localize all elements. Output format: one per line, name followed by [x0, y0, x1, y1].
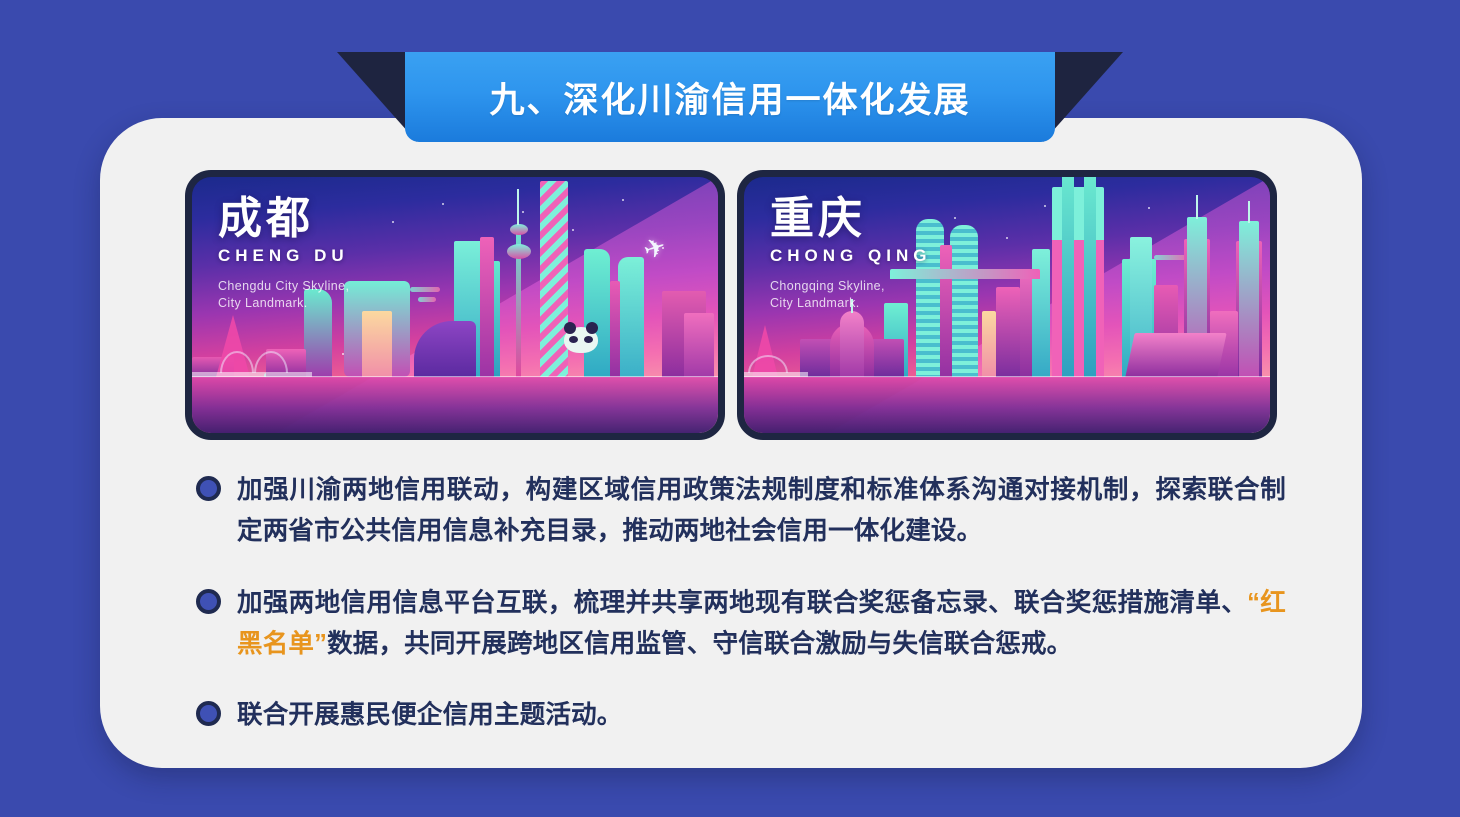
- bullet-list: 加强川渝两地信用联动，构建区域信用政策法规制度和标准体系沟通对接机制，探索联合制…: [196, 470, 1286, 736]
- city-label-chengdu: 成都 CHENG DU Chengdu City Skyline, City L…: [218, 195, 349, 312]
- bullet-text: 加强川渝两地信用联动，构建区域信用政策法规制度和标准体系沟通对接机制，探索联合制…: [237, 470, 1286, 553]
- bullet-text-pre: 加强两地信用信息平台互联，梳理并共享两地现有联合奖惩备忘录、联合奖惩措施清单、: [237, 589, 1247, 617]
- bullet-text: 加强两地信用信息平台互联，梳理并共享两地现有联合奖惩备忘录、联合奖惩措施清单、“…: [237, 583, 1286, 666]
- water-chongqing: [744, 377, 1270, 433]
- ribbon-fold-right: [1043, 52, 1123, 142]
- bullet-icon: [196, 701, 221, 726]
- panda-icon: [564, 327, 598, 353]
- city-name-en: CHENG DU: [218, 246, 349, 266]
- city-subtitle-line2: City Landmark.: [770, 295, 931, 312]
- page-title: 九、深化川渝信用一体化发展: [489, 72, 970, 123]
- water-chengdu: [192, 377, 718, 433]
- city-subtitle: Chongqing Skyline, City Landmark.: [770, 278, 931, 313]
- city-card-chongqing[interactable]: 重庆 CHONG QING Chongqing Skyline, City La…: [737, 170, 1277, 440]
- city-card-chengdu[interactable]: ✈: [185, 170, 725, 440]
- title-banner: 九、深化川渝信用一体化发展: [405, 52, 1055, 142]
- list-item: 加强川渝两地信用联动，构建区域信用政策法规制度和标准体系沟通对接机制，探索联合制…: [196, 470, 1286, 553]
- city-name-cn: 重庆: [770, 195, 931, 243]
- bullet-text-pre: 联合开展惠民便企信用主题活动。: [237, 701, 623, 729]
- city-image-row: ✈: [185, 170, 1277, 440]
- city-subtitle-line1: Chengdu City Skyline,: [218, 278, 349, 295]
- city-subtitle-line1: Chongqing Skyline,: [770, 278, 931, 295]
- city-subtitle: Chengdu City Skyline, City Landmark.: [218, 278, 349, 313]
- bullet-text-pre: 加强川渝两地信用联动，构建区域信用政策法规制度和标准体系沟通对接机制，探索联合制…: [237, 476, 1286, 545]
- city-name-en: CHONG QING: [770, 246, 931, 266]
- slide-root: 九、深化川渝信用一体化发展 ✈: [0, 0, 1460, 817]
- city-label-chongqing: 重庆 CHONG QING Chongqing Skyline, City La…: [770, 195, 931, 312]
- city-name-cn: 成都: [218, 195, 349, 243]
- bullet-text-post: 数据，共同开展跨地区信用监管、守信联合激励与失信联合惩戒。: [327, 630, 1072, 658]
- city-subtitle-line2: City Landmark.: [218, 295, 349, 312]
- bullet-icon: [196, 476, 221, 501]
- list-item: 加强两地信用信息平台互联，梳理并共享两地现有联合奖惩备忘录、联合奖惩措施清单、“…: [196, 583, 1286, 666]
- bullet-text: 联合开展惠民便企信用主题活动。: [237, 695, 623, 736]
- bullet-icon: [196, 589, 221, 614]
- list-item: 联合开展惠民便企信用主题活动。: [196, 695, 1286, 736]
